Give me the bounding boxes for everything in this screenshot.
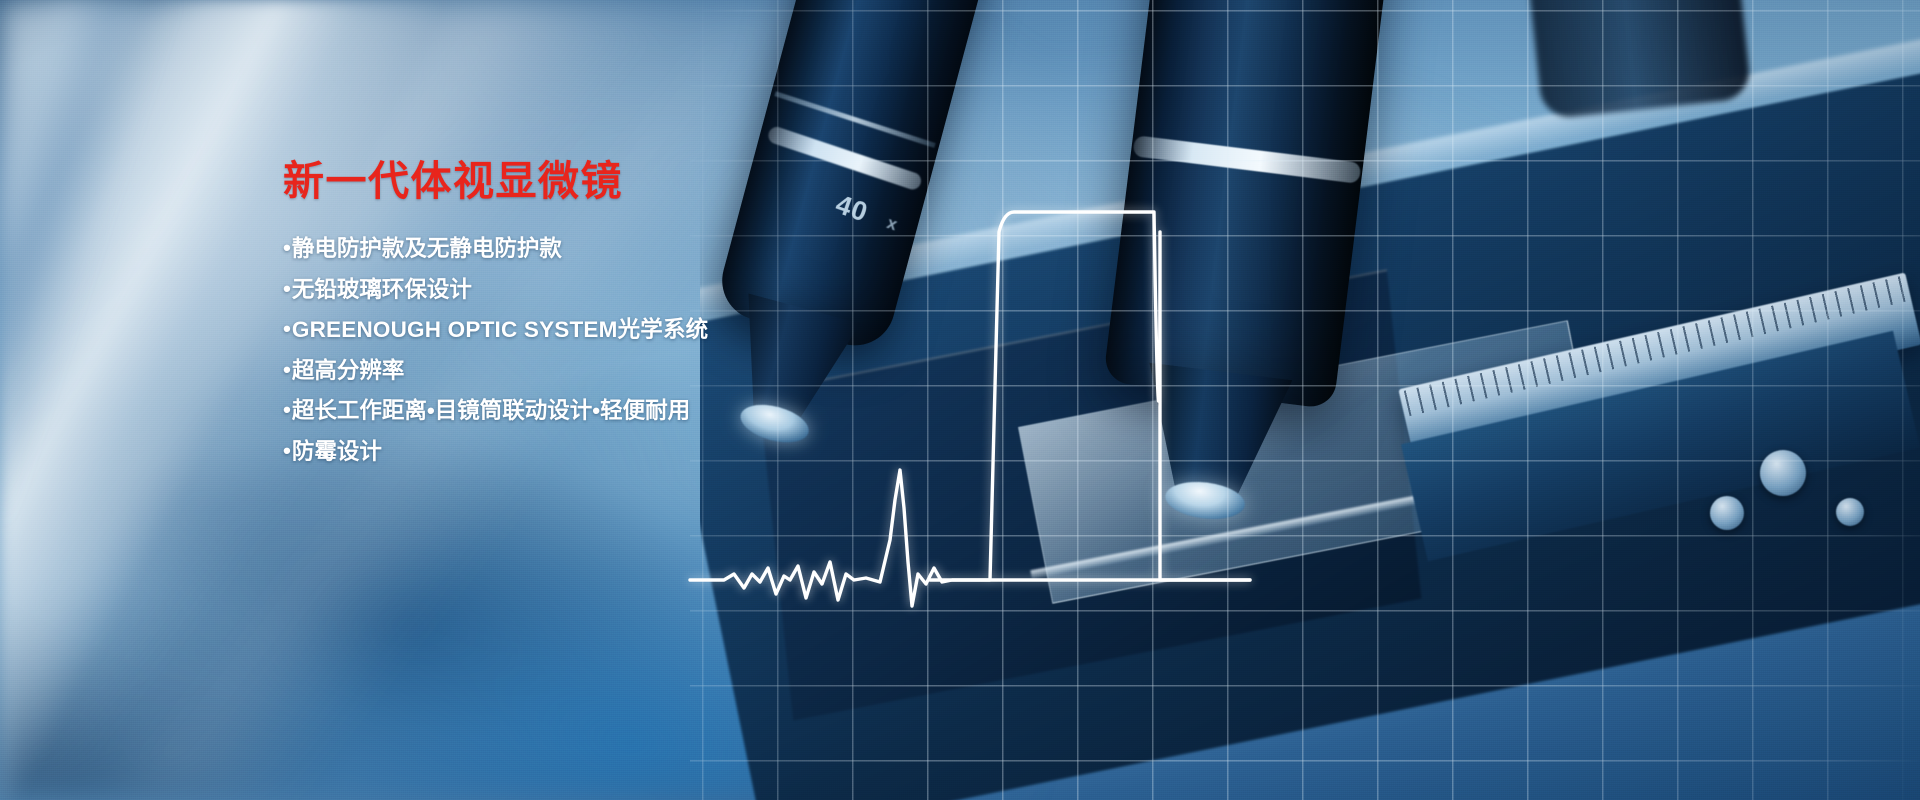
hero-banner: GUOD OPTICS 40 x 100/1.25 (0, 0, 1920, 800)
pulse-waveform-overlay (690, 170, 1250, 640)
feature-bullet-item: •超高分辨率 (283, 360, 753, 383)
bullet-marker-icon: • (283, 359, 291, 382)
bullet-marker-icon: • (283, 278, 291, 301)
bullet-marker-icon: • (283, 318, 291, 341)
bullet-marker-icon: • (283, 440, 291, 463)
waveform-svg (690, 170, 1250, 640)
feature-bullet-label: 静电防护款及无静电防护款 (292, 238, 562, 261)
waveform-ecg-path (690, 470, 1250, 606)
feature-bullet-item: •GREENOUGH OPTIC SYSTEM光学系统 (283, 319, 753, 342)
feature-bullet-item: •防霉设计 (283, 441, 753, 464)
feature-bullet-label: 无铅玻璃环保设计 (292, 279, 472, 302)
bullet-marker-icon: • (283, 399, 291, 422)
bullet-marker-icon: • (283, 237, 291, 260)
feature-bullet-label: GREENOUGH OPTIC SYSTEM光学系统 (292, 319, 708, 342)
waveform-square-pulse-path (930, 212, 1250, 580)
feature-bullet-label: 超长工作距离•目镜筒联动设计•轻便耐用 (292, 400, 690, 423)
feature-bullet-label: 超高分辨率 (292, 360, 405, 383)
banner-copy: 新一代体视显微镜 •静电防护款及无静电防护款•无铅玻璃环保设计•GREENOUG… (283, 158, 753, 463)
feature-bullet-list: •静电防护款及无静电防护款•无铅玻璃环保设计•GREENOUGH OPTIC S… (283, 238, 753, 463)
feature-bullet-label: 防霉设计 (292, 441, 382, 464)
feature-bullet-item: •超长工作距离•目镜筒联动设计•轻便耐用 (283, 400, 753, 423)
feature-bullet-item: •无铅玻璃环保设计 (283, 279, 753, 302)
feature-bullet-item: •静电防护款及无静电防护款 (283, 238, 753, 261)
banner-title: 新一代体视显微镜 (283, 158, 753, 205)
